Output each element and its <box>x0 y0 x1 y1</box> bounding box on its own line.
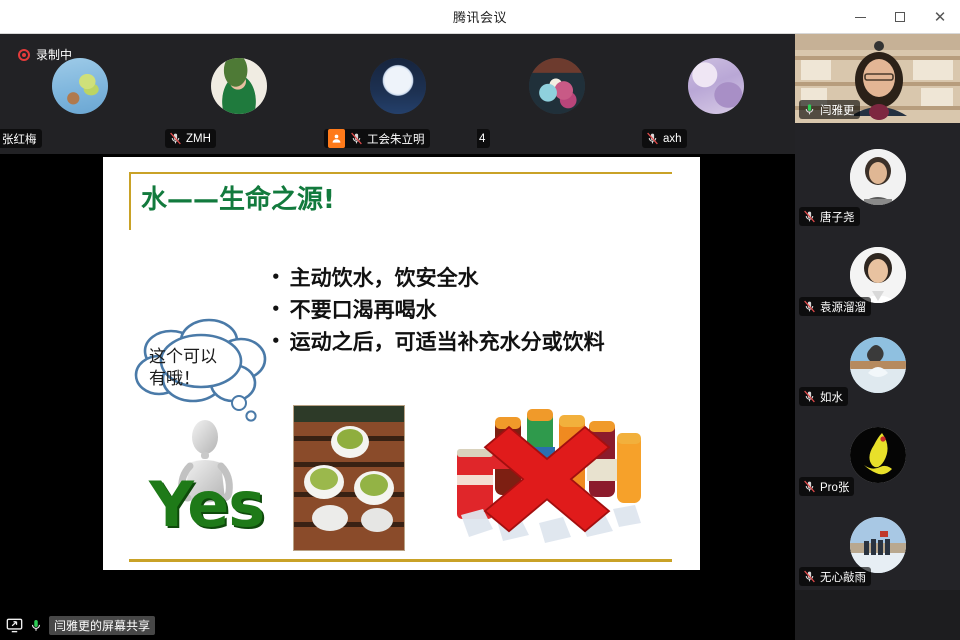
list-item: • 运动之后，可适当补充水分或饮料 <box>271 326 691 358</box>
avatar <box>850 427 906 483</box>
mic-on-icon <box>803 103 816 116</box>
avatar-image <box>850 517 906 573</box>
avatar <box>211 58 267 114</box>
participant-name: 袁源溜溜 <box>820 299 866 315</box>
participant-name: 如水 <box>820 389 843 405</box>
title-bar: 腾讯会议 ✕ <box>0 0 960 34</box>
avatar <box>529 58 585 114</box>
avatar-image <box>850 337 906 393</box>
list-item: • 不要口渴再喝水 <box>271 294 691 326</box>
slide-title: 水——生命之源! <box>141 179 335 216</box>
mic-on-icon[interactable] <box>29 618 43 633</box>
mic-muted-icon <box>803 390 816 403</box>
sidebar-tile-wuxinqiaoyu[interactable]: 无心敲雨 <box>795 500 960 590</box>
sidebar-tile-rushui[interactable]: 如水 <box>795 320 960 410</box>
avatar <box>688 58 744 114</box>
window-controls: ✕ <box>840 0 960 34</box>
name-tag: 张红梅 <box>0 129 42 148</box>
participant-name: 张红梅 <box>2 131 37 147</box>
maximize-icon <box>895 12 905 22</box>
sidebar-tile-prozhang[interactable]: Pro张 <box>795 410 960 500</box>
sidebar-empty-space <box>795 592 960 640</box>
mic-muted-icon <box>803 300 816 313</box>
participant-tile-4[interactable]: 4 <box>477 34 636 154</box>
tea-cups-image <box>294 406 404 550</box>
mic-muted-icon <box>350 132 363 145</box>
name-tag: 如水 <box>799 387 848 406</box>
name-tag: 闫雅更 <box>799 100 860 119</box>
thought-bubble-line2: 有哦！ <box>149 369 261 391</box>
mic-muted-icon <box>803 210 816 223</box>
participant-name: 唐子尧 <box>820 209 855 225</box>
avatar <box>370 58 426 114</box>
participant-name: 无心敲雨 <box>820 569 866 585</box>
participant-strip-inner: 录制中 张红梅 <box>0 34 795 154</box>
screen-share-icon[interactable] <box>6 618 23 633</box>
avatar-image <box>850 427 906 483</box>
participant-name: ZMH <box>186 133 211 145</box>
avatar <box>52 58 108 114</box>
slide-top-rule <box>129 172 672 174</box>
share-status-label: 闫雅更的屏幕共享 <box>49 616 155 635</box>
bullet-dot-icon: • <box>271 270 281 285</box>
mannequin-yes-group: Yes <box>149 419 289 547</box>
avatar <box>850 517 906 573</box>
mic-muted-icon <box>169 132 182 145</box>
mic-muted-icon <box>646 132 659 145</box>
slide-bullet-list: • 主动饮水，饮安全水 • 不要口渴再喝水 • 运动之后，可适当补充水分或饮料 <box>271 262 691 358</box>
screen-share-notch <box>583 570 598 583</box>
avatar <box>850 247 906 303</box>
recording-label: 录制中 <box>36 46 72 63</box>
window-title: 腾讯会议 <box>453 7 507 26</box>
participant-sidebar: 闫雅更 <box>795 34 960 640</box>
participant-tile-axh[interactable]: axh <box>636 34 795 154</box>
bullet-dot-icon: • <box>271 302 281 317</box>
presentation-slide: 水——生命之源! • 主动饮水，饮安全水 • 不要口渴再喝水 • 运动之后，可适… <box>103 157 700 570</box>
mic-muted-icon <box>803 480 816 493</box>
close-button[interactable]: ✕ <box>920 0 960 34</box>
avatar <box>850 337 906 393</box>
tea-cups-photo <box>293 405 405 551</box>
soft-drinks-with-red-x <box>443 397 651 557</box>
participant-tile-zmh[interactable]: ZMH <box>159 34 318 154</box>
minimize-button[interactable] <box>840 0 880 34</box>
name-tag: 袁源溜溜 <box>799 297 871 316</box>
sidebar-tile-yanyageng[interactable]: 闫雅更 <box>795 34 960 123</box>
avatar-image <box>850 247 906 303</box>
sidebar-tile-yuanyuanliuliu[interactable]: 袁源溜溜 <box>795 230 960 320</box>
name-tag: axh <box>642 129 687 148</box>
minimize-icon <box>855 17 866 18</box>
list-item: • 主动饮水，饮安全水 <box>271 262 691 294</box>
recording-indicator: 录制中 <box>18 46 72 63</box>
close-icon: ✕ <box>934 10 947 25</box>
bullet-text: 主动饮水，饮安全水 <box>290 262 479 294</box>
name-tag: 4 <box>477 129 490 148</box>
name-tag: 工会朱立明 <box>324 129 430 148</box>
bullet-text: 运动之后，可适当补充水分或饮料 <box>290 326 605 358</box>
participant-name: 闫雅更 <box>820 102 855 118</box>
maximize-button[interactable] <box>880 0 920 34</box>
bullet-text: 不要口渴再喝水 <box>290 294 437 326</box>
participant-name: axh <box>663 133 682 145</box>
yes-label: Yes <box>149 474 264 536</box>
shared-screen-area: 水——生命之源! • 主动饮水，饮安全水 • 不要口渴再喝水 • 运动之后，可适… <box>0 154 795 640</box>
thought-bubble-text: 这个可以 有哦！ <box>149 347 261 391</box>
participant-tile-gonghuizhuliming[interactable]: 工会朱立明 <box>318 34 477 154</box>
participant-name: 工会朱立明 <box>367 131 425 147</box>
name-tag: Pro张 <box>799 477 854 496</box>
record-dot-icon <box>18 49 30 61</box>
thought-bubble-line1: 这个可以 <box>149 347 261 369</box>
avatar-image <box>850 149 906 205</box>
tencent-meeting-window: 腾讯会议 ✕ 录制中 <box>0 0 960 640</box>
name-tag: ZMH <box>165 129 216 148</box>
thought-bubble: 这个可以 有哦！ <box>131 317 281 427</box>
name-tag: 唐子尧 <box>799 207 860 226</box>
participant-name: Pro张 <box>820 479 849 495</box>
name-tag: 无心敲雨 <box>799 567 871 586</box>
slide-left-rule <box>129 172 131 230</box>
slide-bottom-rule <box>129 559 672 562</box>
mic-muted-icon <box>803 570 816 583</box>
sidebar-tile-tangziyao[interactable]: 唐子尧 <box>795 123 960 230</box>
share-status-bar: 闫雅更的屏幕共享 <box>0 610 795 640</box>
avatar <box>850 149 906 205</box>
soft-drinks-image <box>443 397 651 557</box>
participant-name: 4 <box>479 133 485 145</box>
host-badge-icon <box>328 129 345 148</box>
